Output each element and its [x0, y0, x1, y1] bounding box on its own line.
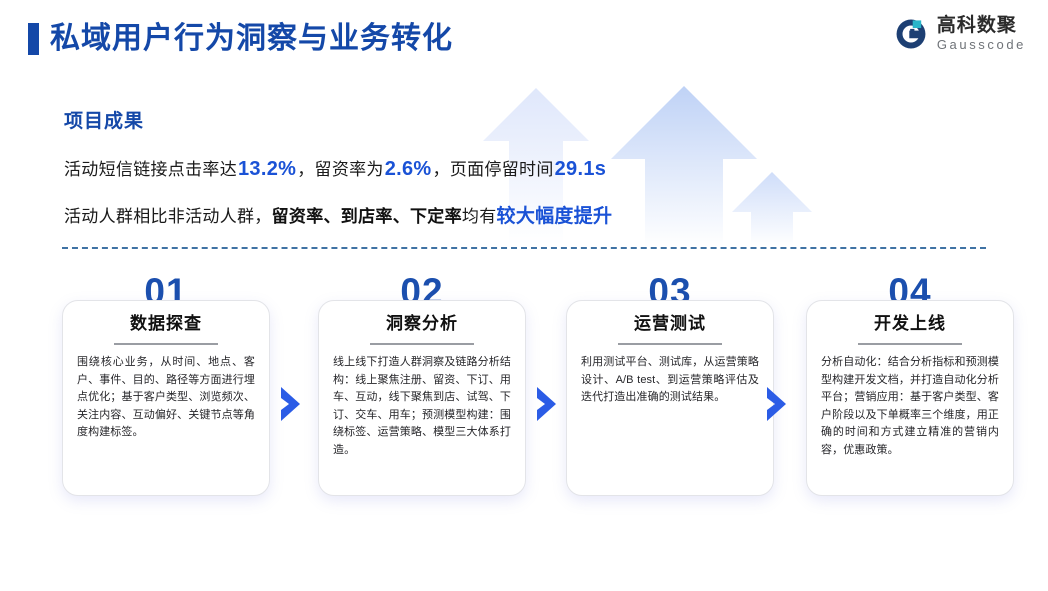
results-line2-text1: 活动人群相比非活动人群，: [64, 207, 272, 226]
slide-root: 私域用户行为洞察与业务转化 高科数聚 Gausscode 项目成果 活动短信链接…: [0, 0, 1048, 591]
step-description-1: 围绕核心业务，从时间、地点、客户、事件、目的、路径等方面进行埋点优化；基于客户类…: [77, 354, 255, 442]
process-steps: 01 数据探查 围绕核心业务，从时间、地点、客户、事件、目的、路径等方面进行埋点…: [0, 272, 1048, 517]
slide-header: 私域用户行为洞察与业务转化 高科数聚 Gausscode: [0, 0, 1048, 78]
results-line2-metrics: 留资率、到店率、下定率: [272, 207, 462, 226]
step-rule-2: [370, 343, 474, 345]
step-title-3: 运营测试: [581, 312, 759, 336]
results-line1-text1: 活动短信链接点击率达: [64, 160, 237, 179]
project-results-block: 项目成果 活动短信链接点击率达13.2%，留资率为2.6%，页面停留时间29.1…: [64, 106, 612, 248]
step-card-1[interactable]: 01 数据探查 围绕核心业务，从时间、地点、客户、事件、目的、路径等方面进行埋点…: [62, 272, 270, 312]
step-card-body-3[interactable]: 运营测试 利用测试平台、测试库，从运营策略设计、A/B test、到运营策略评估…: [566, 300, 774, 496]
chevron-right-icon-1: [278, 385, 304, 423]
logo-name-cn: 高科数聚: [937, 16, 1026, 35]
results-line2-text2: 均有: [462, 207, 497, 226]
step-rule-1: [114, 343, 218, 345]
step-card-2[interactable]: 02 洞察分析 线上线下打造人群洞察及链路分析结构：线上聚焦注册、留资、下订、用…: [318, 272, 526, 312]
results-heading: 项目成果: [64, 106, 612, 133]
up-arrow-icon-right: [732, 172, 812, 246]
step-rule-3: [618, 343, 722, 345]
page-title: 私域用户行为洞察与业务转化: [50, 18, 453, 60]
stat-click-rate: 13.2%: [237, 158, 297, 180]
step-title-2: 洞察分析: [333, 312, 511, 336]
results-line1-text2: ，留资率为: [297, 160, 384, 179]
results-line2-highlight: 较大幅度提升: [497, 206, 613, 227]
stat-lead-rate: 2.6%: [384, 158, 433, 180]
title-accent-marker: [28, 23, 39, 55]
results-line-2: 活动人群相比非活动人群，留资率、到店率、下定率均有较大幅度提升: [64, 201, 612, 228]
step-title-4: 开发上线: [821, 312, 999, 336]
step-description-4: 分析自动化：结合分析指标和预测模型构建开发文档，并打造自动化分析平台；营销应用：…: [821, 354, 999, 459]
step-description-2: 线上线下打造人群洞察及链路分析结构：线上聚焦注册、留资、下订、用车、互动，线下聚…: [333, 354, 511, 459]
logo-text-block: 高科数聚 Gausscode: [937, 16, 1026, 51]
chevron-right-icon-3: [764, 385, 790, 423]
step-card-3[interactable]: 03 运营测试 利用测试平台、测试库，从运营策略设计、A/B test、到运营策…: [566, 272, 774, 312]
step-card-body-1[interactable]: 数据探查 围绕核心业务，从时间、地点、客户、事件、目的、路径等方面进行埋点优化；…: [62, 300, 270, 496]
step-description-3: 利用测试平台、测试库，从运营策略设计、A/B test、到运营策略评估及迭代打造…: [581, 354, 759, 407]
brand-logo: 高科数聚 Gausscode: [894, 16, 1026, 51]
gausscode-logo-icon: [894, 17, 928, 51]
results-line1-text3: ，页面停留时间: [433, 160, 554, 179]
results-line-1: 活动短信链接点击率达13.2%，留资率为2.6%，页面停留时间29.1s: [64, 155, 612, 181]
stat-dwell-time: 29.1s: [554, 158, 608, 180]
chevron-right-icon-2: [534, 385, 560, 423]
step-title-1: 数据探查: [77, 312, 255, 336]
up-arrow-icon-center: [611, 86, 757, 247]
step-card-body-2[interactable]: 洞察分析 线上线下打造人群洞察及链路分析结构：线上聚焦注册、留资、下订、用车、互…: [318, 300, 526, 496]
step-rule-4: [858, 343, 962, 345]
step-card-body-4[interactable]: 开发上线 分析自动化：结合分析指标和预测模型构建开发文档，并打造自动化分析平台；…: [806, 300, 1014, 496]
step-card-4[interactable]: 04 开发上线 分析自动化：结合分析指标和预测模型构建开发文档，并打造自动化分析…: [806, 272, 1014, 312]
logo-name-en: Gausscode: [937, 38, 1026, 51]
